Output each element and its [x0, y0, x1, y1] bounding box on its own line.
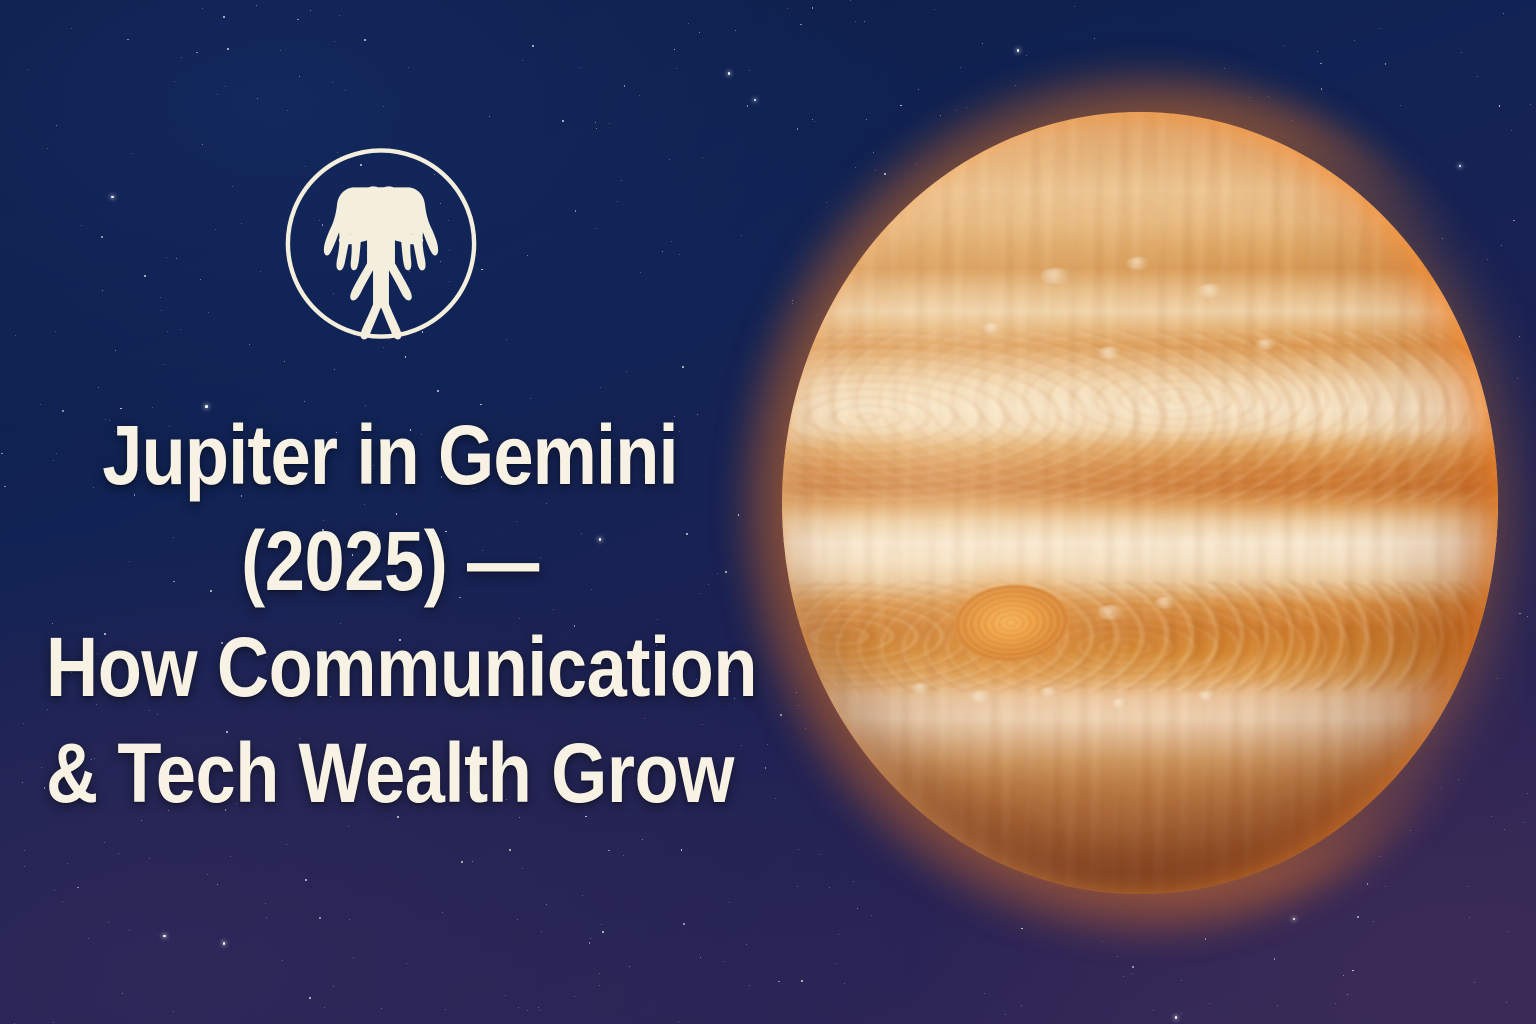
gemini-twin-figures [324, 186, 438, 339]
hero-graphic: Jupiter in Gemini (2025) — How Communica… [0, 0, 1536, 1024]
title-line-3: How Communication [46, 614, 734, 720]
title-line-2: (2025) — [46, 508, 734, 614]
planet-disc [782, 112, 1498, 894]
gemini-twins-icon [283, 145, 479, 342]
page-title: Jupiter in Gemini (2025) — How Communica… [46, 402, 734, 826]
gemini-zodiac-badge [283, 145, 479, 342]
title-line-1: Jupiter in Gemini [46, 402, 734, 508]
title-line-4: & Tech Wealth Grow [46, 720, 734, 826]
jupiter-planet [782, 112, 1498, 894]
planet-bottom-shadow [782, 112, 1498, 894]
